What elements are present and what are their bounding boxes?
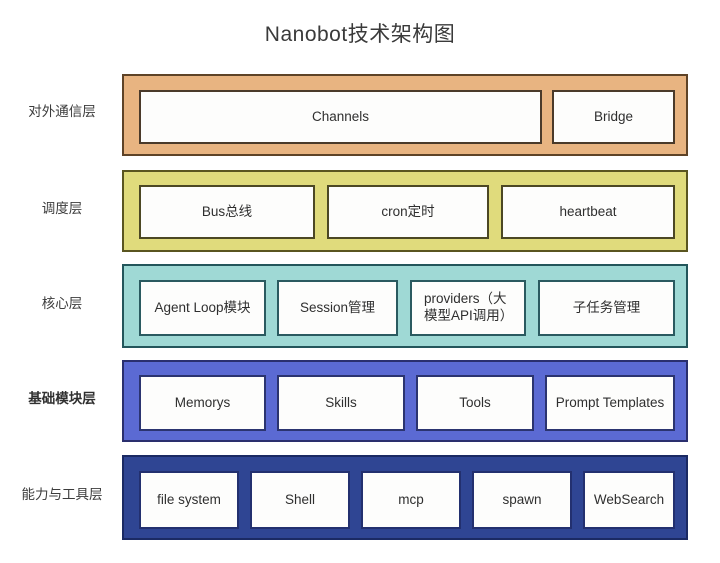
box-label: Skills	[325, 395, 357, 412]
box-mcp[interactable]: mcp	[361, 471, 461, 529]
layer-row-capability-tools: 能力与工具层 file system Shell mcp spawn WebSe…	[0, 455, 720, 540]
box-file-system[interactable]: file system	[139, 471, 239, 529]
box-bus[interactable]: Bus总线	[139, 185, 315, 239]
page-title: Nanobot技术架构图	[0, 18, 720, 48]
box-websearch[interactable]: WebSearch	[583, 471, 675, 529]
layer-label-communication: 对外通信层	[8, 104, 116, 120]
layer-row-communication: 对外通信层 Channels Bridge	[0, 74, 720, 156]
layer-row-core: 核心层 Agent Loop模块 Session管理 providers（大模型…	[0, 264, 720, 348]
layer-label-scheduling: 调度层	[8, 201, 116, 217]
box-label: Shell	[285, 492, 315, 509]
box-spawn[interactable]: spawn	[472, 471, 572, 529]
box-label: Session管理	[300, 300, 375, 317]
box-cron[interactable]: cron定时	[327, 185, 489, 239]
box-agent-loop[interactable]: Agent Loop模块	[139, 280, 266, 336]
box-label: cron定时	[381, 204, 434, 221]
box-tools[interactable]: Tools	[416, 375, 534, 431]
layer-band-scheduling: Bus总线 cron定时 heartbeat	[122, 170, 688, 252]
box-label: spawn	[502, 492, 541, 509]
box-label: Agent Loop模块	[154, 300, 250, 317]
box-label: 子任务管理	[573, 300, 641, 317]
box-label: Tools	[459, 395, 491, 412]
box-skills[interactable]: Skills	[277, 375, 405, 431]
layer-band-communication: Channels Bridge	[122, 74, 688, 156]
box-channels[interactable]: Channels	[139, 90, 542, 144]
box-shell[interactable]: Shell	[250, 471, 350, 529]
layer-label-capability-tools: 能力与工具层	[8, 487, 116, 503]
box-heartbeat[interactable]: heartbeat	[501, 185, 675, 239]
layer-band-capability-tools: file system Shell mcp spawn WebSearch	[122, 455, 688, 540]
box-prompt-templates[interactable]: Prompt Templates	[545, 375, 675, 431]
box-bridge[interactable]: Bridge	[552, 90, 675, 144]
box-subtask[interactable]: 子任务管理	[538, 280, 675, 336]
box-providers[interactable]: providers（大模型API调用）	[410, 280, 526, 336]
layer-row-base-modules: 基础模块层 Memorys Skills Tools Prompt Templa…	[0, 360, 720, 442]
box-label: Prompt Templates	[556, 395, 665, 412]
box-label: WebSearch	[594, 492, 664, 509]
box-label: providers（大模型API调用）	[424, 291, 520, 325]
architecture-diagram: Nanobot技术架构图 对外通信层 Channels Bridge 调度层 B…	[0, 0, 720, 563]
box-label: file system	[157, 492, 221, 509]
layer-label-base-modules: 基础模块层	[8, 391, 116, 407]
layer-band-base-modules: Memorys Skills Tools Prompt Templates	[122, 360, 688, 442]
box-label: heartbeat	[559, 204, 616, 221]
box-label: Channels	[312, 109, 369, 126]
layer-band-core: Agent Loop模块 Session管理 providers（大模型API调…	[122, 264, 688, 348]
box-label: Memorys	[175, 395, 231, 412]
box-label: Bus总线	[202, 204, 252, 221]
layer-row-scheduling: 调度层 Bus总线 cron定时 heartbeat	[0, 170, 720, 252]
box-label: mcp	[398, 492, 424, 509]
box-memorys[interactable]: Memorys	[139, 375, 266, 431]
box-label: Bridge	[594, 109, 633, 126]
layer-label-core: 核心层	[8, 296, 116, 312]
box-session[interactable]: Session管理	[277, 280, 398, 336]
